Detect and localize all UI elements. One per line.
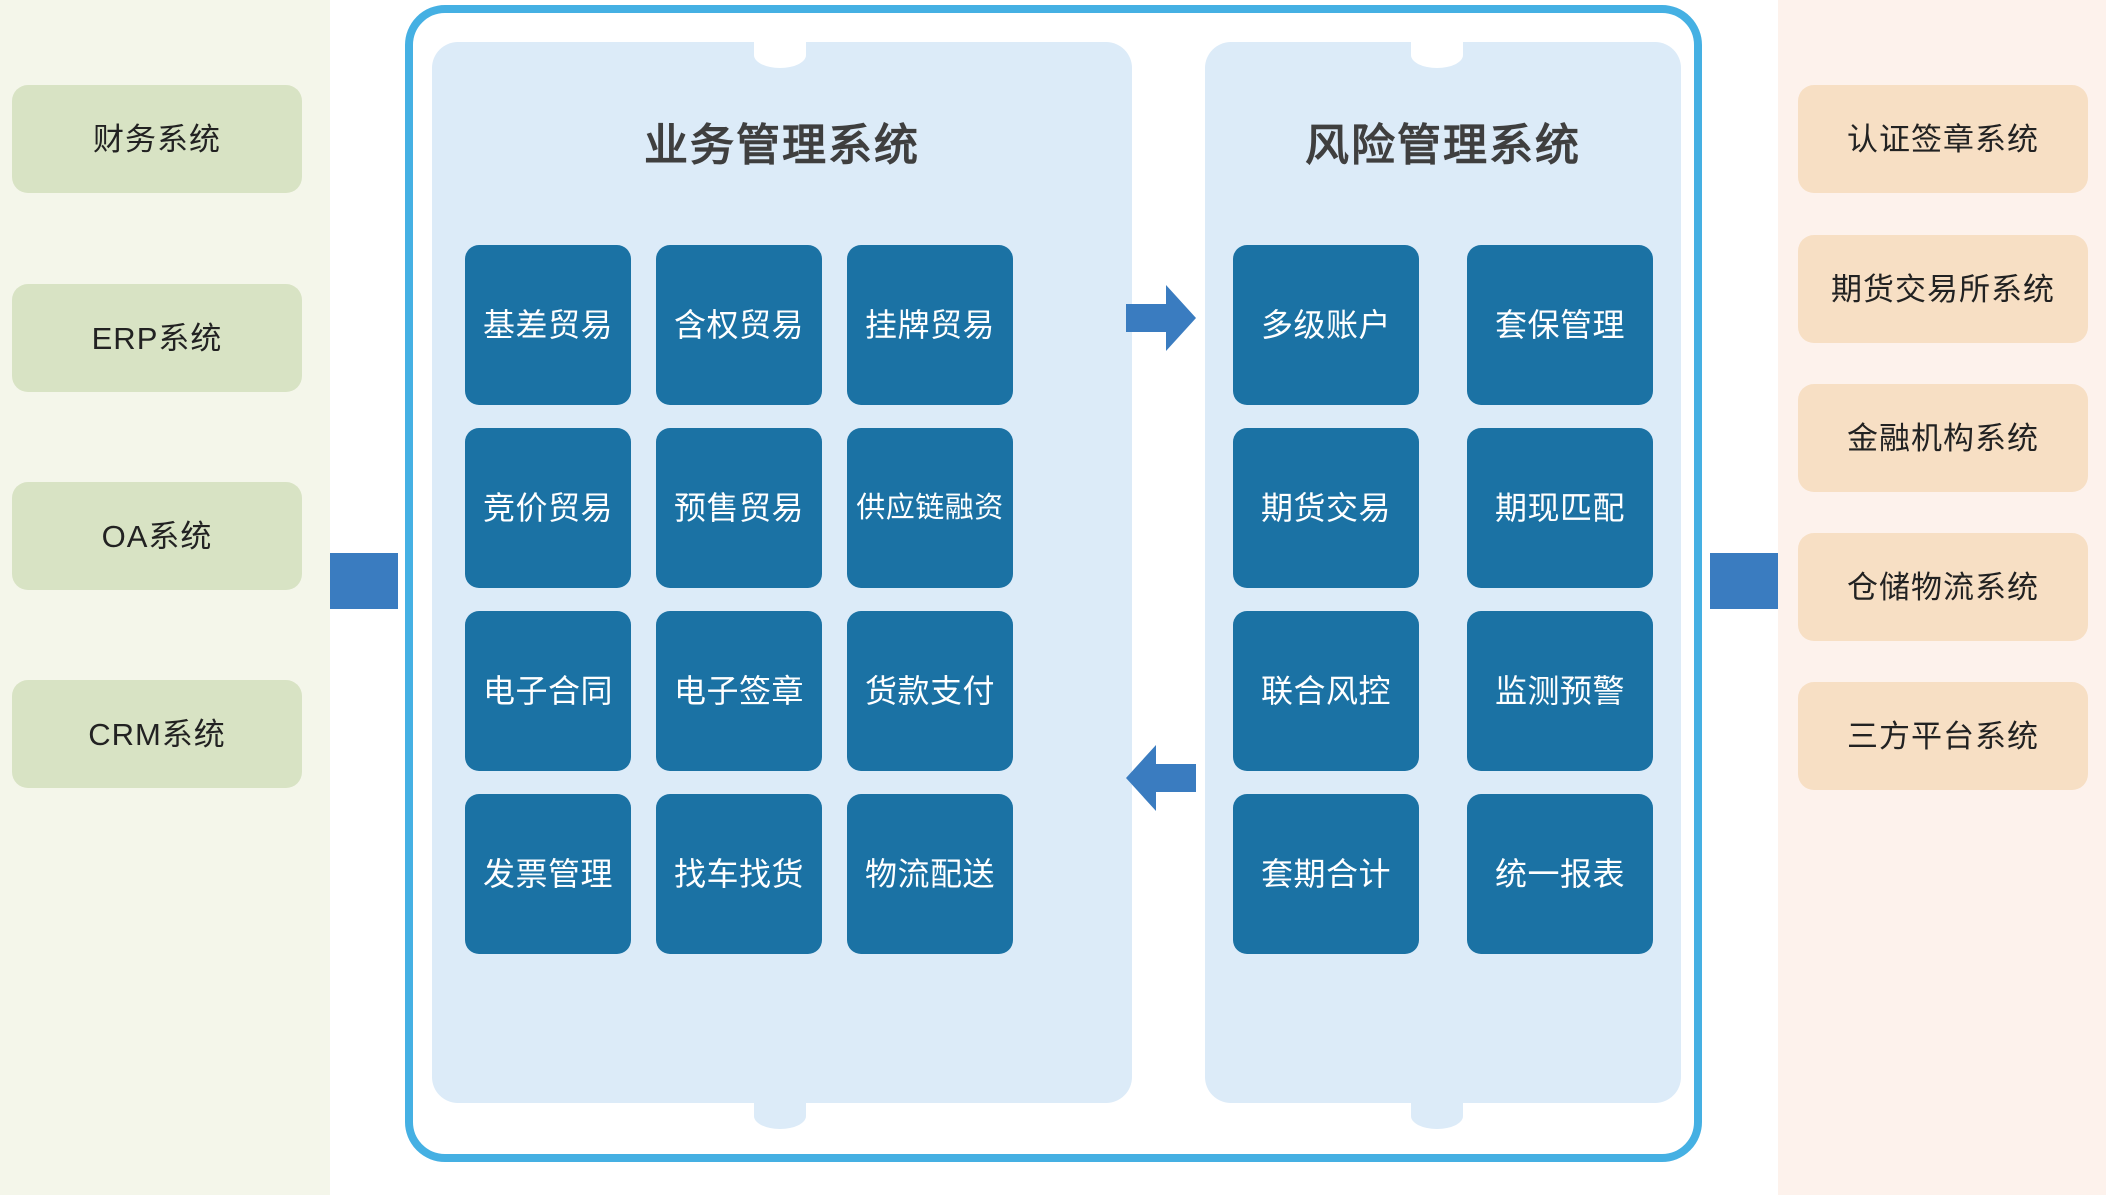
external-system-card-1[interactable]: 期货交易所系统	[1798, 235, 2088, 343]
module-card-jianceyujing[interactable]: 监测预警	[1467, 611, 1653, 771]
module-card-qixianpipei[interactable]: 期现匹配	[1467, 428, 1653, 588]
module-card-zhaochezhaohuo[interactable]: 找车找货	[656, 794, 822, 954]
left-external-systems-panel: 财务系统 ERP系统 OA系统 CRM系统	[0, 0, 330, 1195]
module-card-dianziqianzhang[interactable]: 电子签章	[656, 611, 822, 771]
module-card-taoqiheji[interactable]: 套期合计	[1233, 794, 1419, 954]
business-module-grid: 基差贸易 含权贸易 挂牌贸易 竞价贸易 预售贸易 供应链融资 电子合同 电子签章…	[465, 245, 1099, 954]
external-system-label: 期货交易所系统	[1831, 274, 2055, 305]
arrow-business-to-risk-icon	[1126, 285, 1196, 351]
module-card-guapaimaoyi[interactable]: 挂牌贸易	[847, 245, 1013, 405]
module-card-jingjiamaoyi[interactable]: 竞价贸易	[465, 428, 631, 588]
risk-module-grid: 多级账户 套保管理 期货交易 期现匹配 联合风控 监测预警 套期合计 统一报表	[1233, 245, 1653, 954]
module-card-taobaoguanli[interactable]: 套保管理	[1467, 245, 1653, 405]
risk-management-system-panel: 风险管理系统 多级账户 套保管理 期货交易 期现匹配 联合风控 监测预警 套期合…	[1205, 42, 1681, 1103]
module-card-jichamaoyi[interactable]: 基差贸易	[465, 245, 631, 405]
arrow-risk-to-business-icon	[1126, 745, 1196, 811]
module-card-fapiaoguanli[interactable]: 发票管理	[465, 794, 631, 954]
external-system-label: 仓储物流系统	[1847, 572, 2039, 603]
panel-bottom-nub	[754, 1103, 806, 1129]
external-system-card-1[interactable]: ERP系统	[12, 284, 302, 392]
external-system-label: CRM系统	[88, 719, 226, 750]
panel-top-notch	[1411, 42, 1463, 68]
module-card-gongyinglianrongzi[interactable]: 供应链融资	[847, 428, 1013, 588]
external-system-card-0[interactable]: 认证签章系统	[1798, 85, 2088, 193]
external-system-card-3[interactable]: CRM系统	[12, 680, 302, 788]
risk-system-title: 风险管理系统	[1205, 124, 1681, 168]
external-system-card-2[interactable]: 金融机构系统	[1798, 384, 2088, 492]
module-card-yushoumaoyi[interactable]: 预售贸易	[656, 428, 822, 588]
connector-left-block	[330, 553, 398, 609]
external-system-card-0[interactable]: 财务系统	[12, 85, 302, 193]
panel-bottom-nub	[1411, 1103, 1463, 1129]
module-card-wuliupeisong[interactable]: 物流配送	[847, 794, 1013, 954]
external-system-label: 金融机构系统	[1847, 423, 2039, 454]
external-system-card-3[interactable]: 仓储物流系统	[1798, 533, 2088, 641]
external-system-label: 认证签章系统	[1847, 124, 2039, 155]
external-system-card-4[interactable]: 三方平台系统	[1798, 682, 2088, 790]
module-card-qihuojiaoyi[interactable]: 期货交易	[1233, 428, 1419, 588]
module-card-huokuanzhifu[interactable]: 货款支付	[847, 611, 1013, 771]
external-system-label: 财务系统	[93, 124, 221, 155]
right-external-systems-panel: 认证签章系统 期货交易所系统 金融机构系统 仓储物流系统 三方平台系统	[1778, 0, 2106, 1195]
external-system-label: OA系统	[102, 521, 213, 552]
module-card-duojizhanghu[interactable]: 多级账户	[1233, 245, 1419, 405]
module-card-lianhefengkong[interactable]: 联合风控	[1233, 611, 1419, 771]
external-system-label: ERP系统	[92, 323, 223, 354]
connector-right-block	[1710, 553, 1778, 609]
module-card-dianzihetong[interactable]: 电子合同	[465, 611, 631, 771]
panel-top-notch	[754, 42, 806, 68]
external-system-card-2[interactable]: OA系统	[12, 482, 302, 590]
business-system-title: 业务管理系统	[432, 124, 1132, 168]
module-card-tongyibaobiao[interactable]: 统一报表	[1467, 794, 1653, 954]
module-card-hanquanmaoyi[interactable]: 含权贸易	[656, 245, 822, 405]
business-management-system-panel: 业务管理系统 基差贸易 含权贸易 挂牌贸易 竞价贸易 预售贸易 供应链融资 电子…	[432, 42, 1132, 1103]
external-system-label: 三方平台系统	[1847, 721, 2039, 752]
